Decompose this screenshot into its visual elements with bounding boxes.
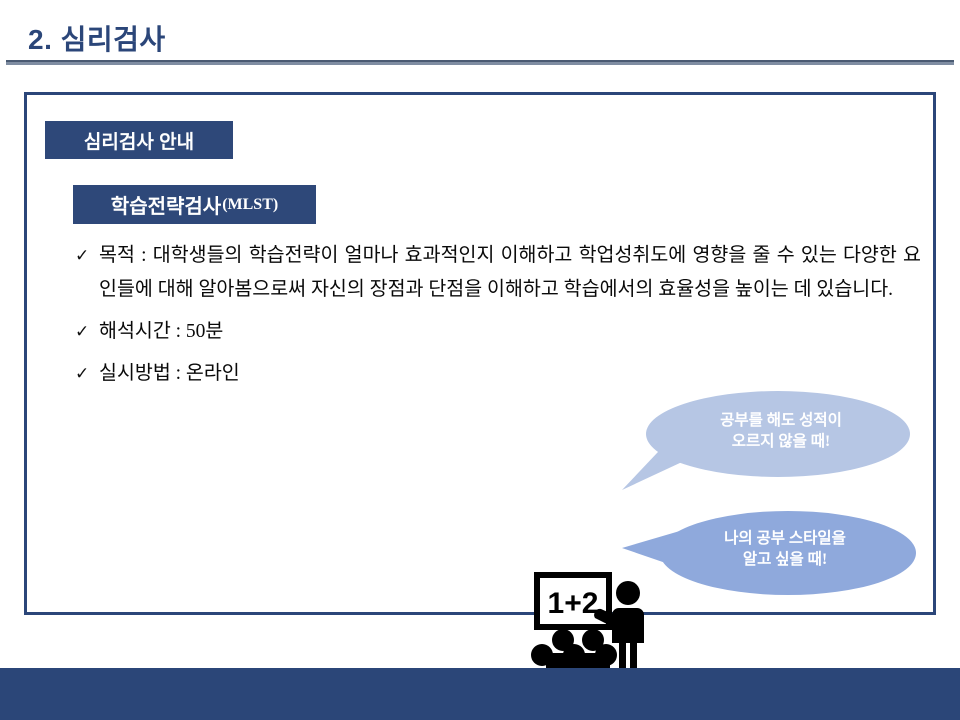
- list-item: ✓ 해석시간 : 50분: [71, 315, 921, 349]
- check-icon: ✓: [71, 357, 99, 391]
- speech-bubble-second: 나의 공부 스타일을 알고 싶을 때!: [620, 500, 920, 606]
- section-badge-test-name: 학습전략검사(MLST): [73, 185, 316, 224]
- section-badge-guide: 심리검사 안내: [45, 121, 233, 159]
- page-title: 2. 심리검사: [28, 18, 166, 58]
- list-item-text: 해석시간 : 50분: [99, 315, 921, 349]
- test-name-main: 학습전략검사: [111, 190, 221, 219]
- svg-text:1+2: 1+2: [548, 587, 599, 620]
- speech-bubble-first: 공부를 해도 성적이 오르지 않을 때!: [620, 386, 920, 496]
- test-name-abbr: (MLST): [222, 196, 278, 214]
- list-item: ✓ 목적 : 대학생들의 학습전략이 얼마나 효과적인지 이해하고 학업성취도에…: [71, 239, 921, 307]
- footer-bar: [0, 668, 960, 720]
- bullet-list: ✓ 목적 : 대학생들의 학습전략이 얼마나 효과적인지 이해하고 학업성취도에…: [71, 239, 921, 399]
- check-icon: ✓: [71, 239, 99, 273]
- check-icon: ✓: [71, 315, 99, 349]
- title-divider: [6, 60, 954, 65]
- list-item-text: 목적 : 대학생들의 학습전략이 얼마나 효과적인지 이해하고 학업성취도에 영…: [99, 239, 921, 307]
